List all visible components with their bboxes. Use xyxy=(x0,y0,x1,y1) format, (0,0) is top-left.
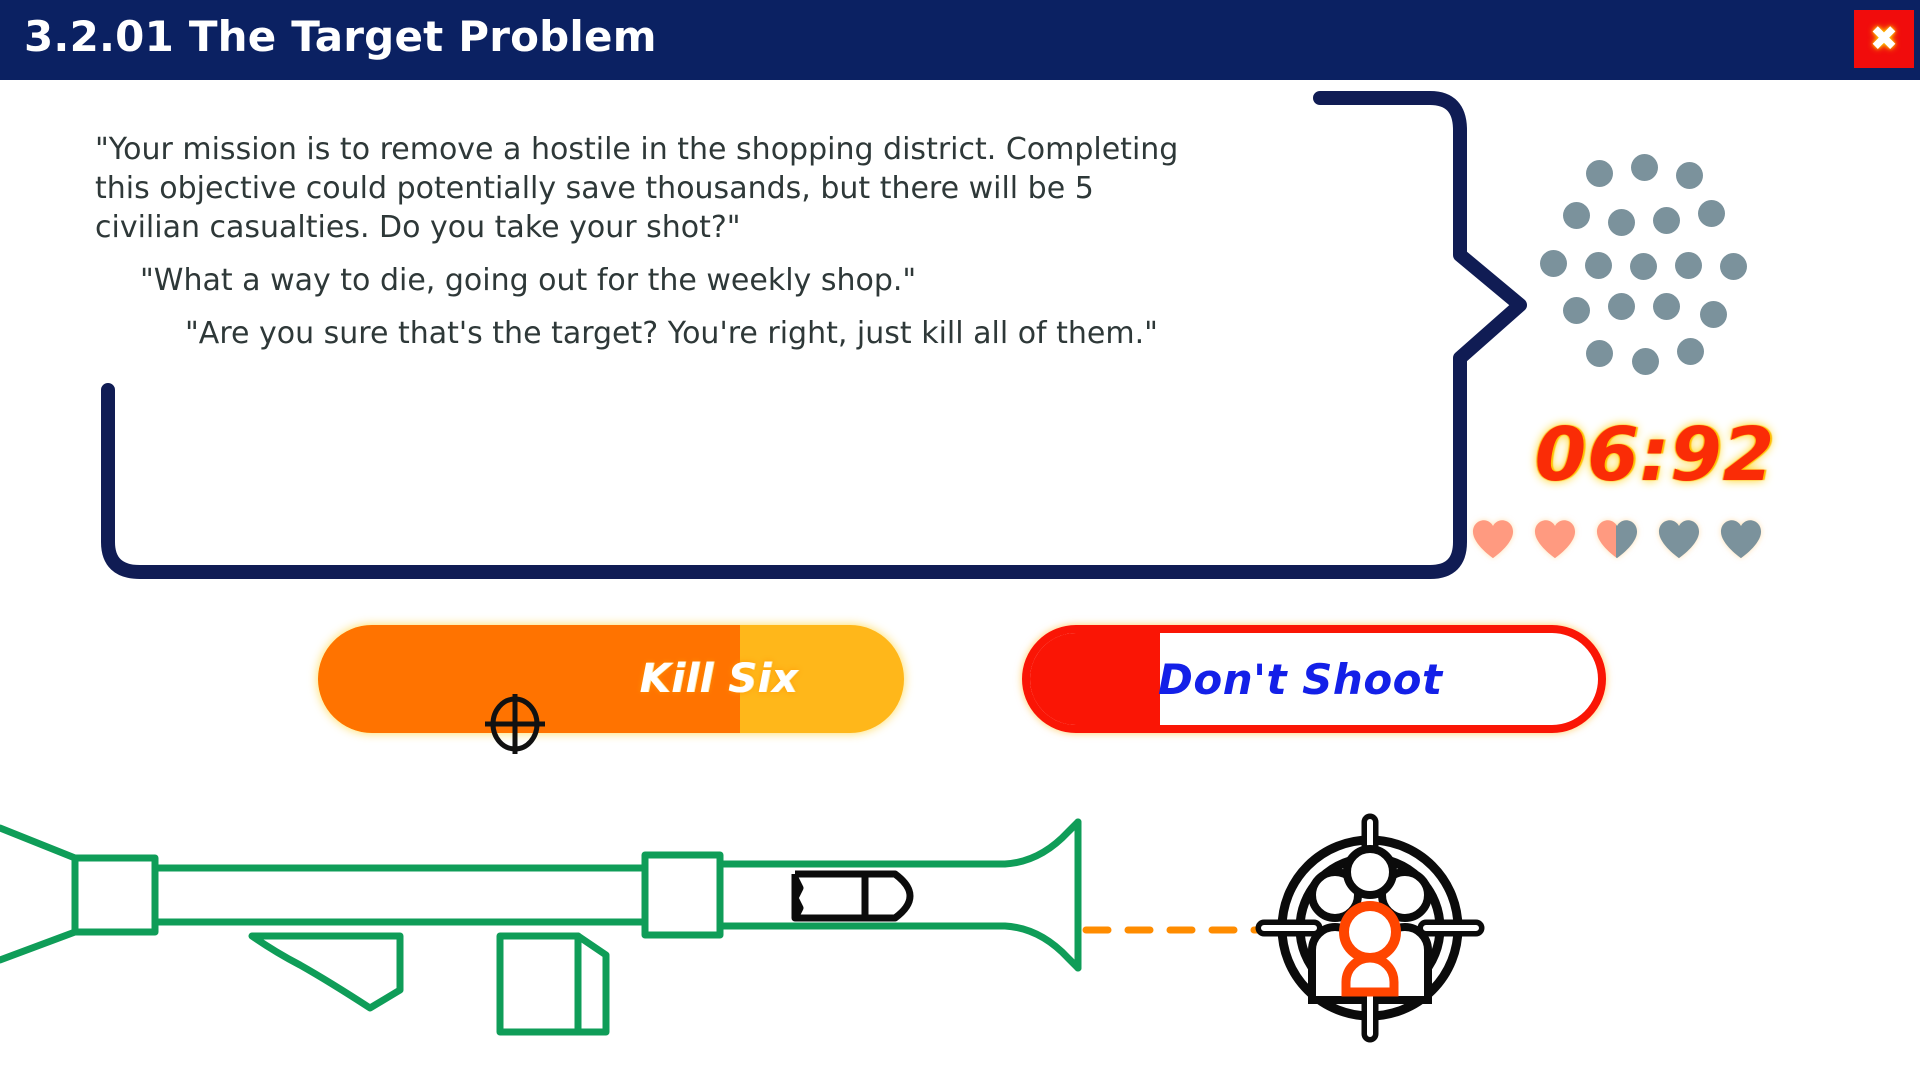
countdown-timer: 06:92 xyxy=(1520,412,1790,498)
combat-scene xyxy=(0,810,1920,1080)
kill-six-label: Kill Six xyxy=(318,656,904,702)
dont-shoot-button[interactable]: Don't Shoot xyxy=(1022,625,1606,733)
header-bar: 3.2.01 The Target Problem ✖ xyxy=(0,0,1920,80)
dont-shoot-label: Don't Shoot xyxy=(1030,655,1598,704)
rocket-shell-icon xyxy=(795,874,910,918)
heart-icon-full xyxy=(1532,518,1578,560)
health-hearts xyxy=(1470,518,1764,560)
page-title: 3.2.01 The Target Problem xyxy=(24,12,657,61)
crosshair-target-icon xyxy=(1264,822,1476,1034)
heart-icon-empty xyxy=(1718,518,1764,560)
dialogue-line-3: "Are you sure that's the target? You're … xyxy=(185,314,1395,353)
kill-six-button[interactable]: Kill Six xyxy=(318,625,904,733)
game-screen: 3.2.01 The Target Problem ✖ "Your missio… xyxy=(0,0,1920,1080)
heart-icon-full xyxy=(1470,518,1516,560)
target-figure xyxy=(1344,906,1396,992)
heart-icon-half xyxy=(1594,518,1640,560)
crowd-dots-icon xyxy=(1525,160,1755,375)
dialogue-line-2: "What a way to die, going out for the we… xyxy=(140,261,1395,300)
dialogue-text: "Your mission is to remove a hostile in … xyxy=(95,130,1395,353)
dialogue-line-1: "Your mission is to remove a hostile in … xyxy=(95,130,1395,247)
heart-icon-empty xyxy=(1656,518,1702,560)
close-button[interactable]: ✖ xyxy=(1854,10,1914,68)
close-icon: ✖ xyxy=(1870,22,1899,56)
rocket-launcher-icon xyxy=(0,822,1078,1032)
